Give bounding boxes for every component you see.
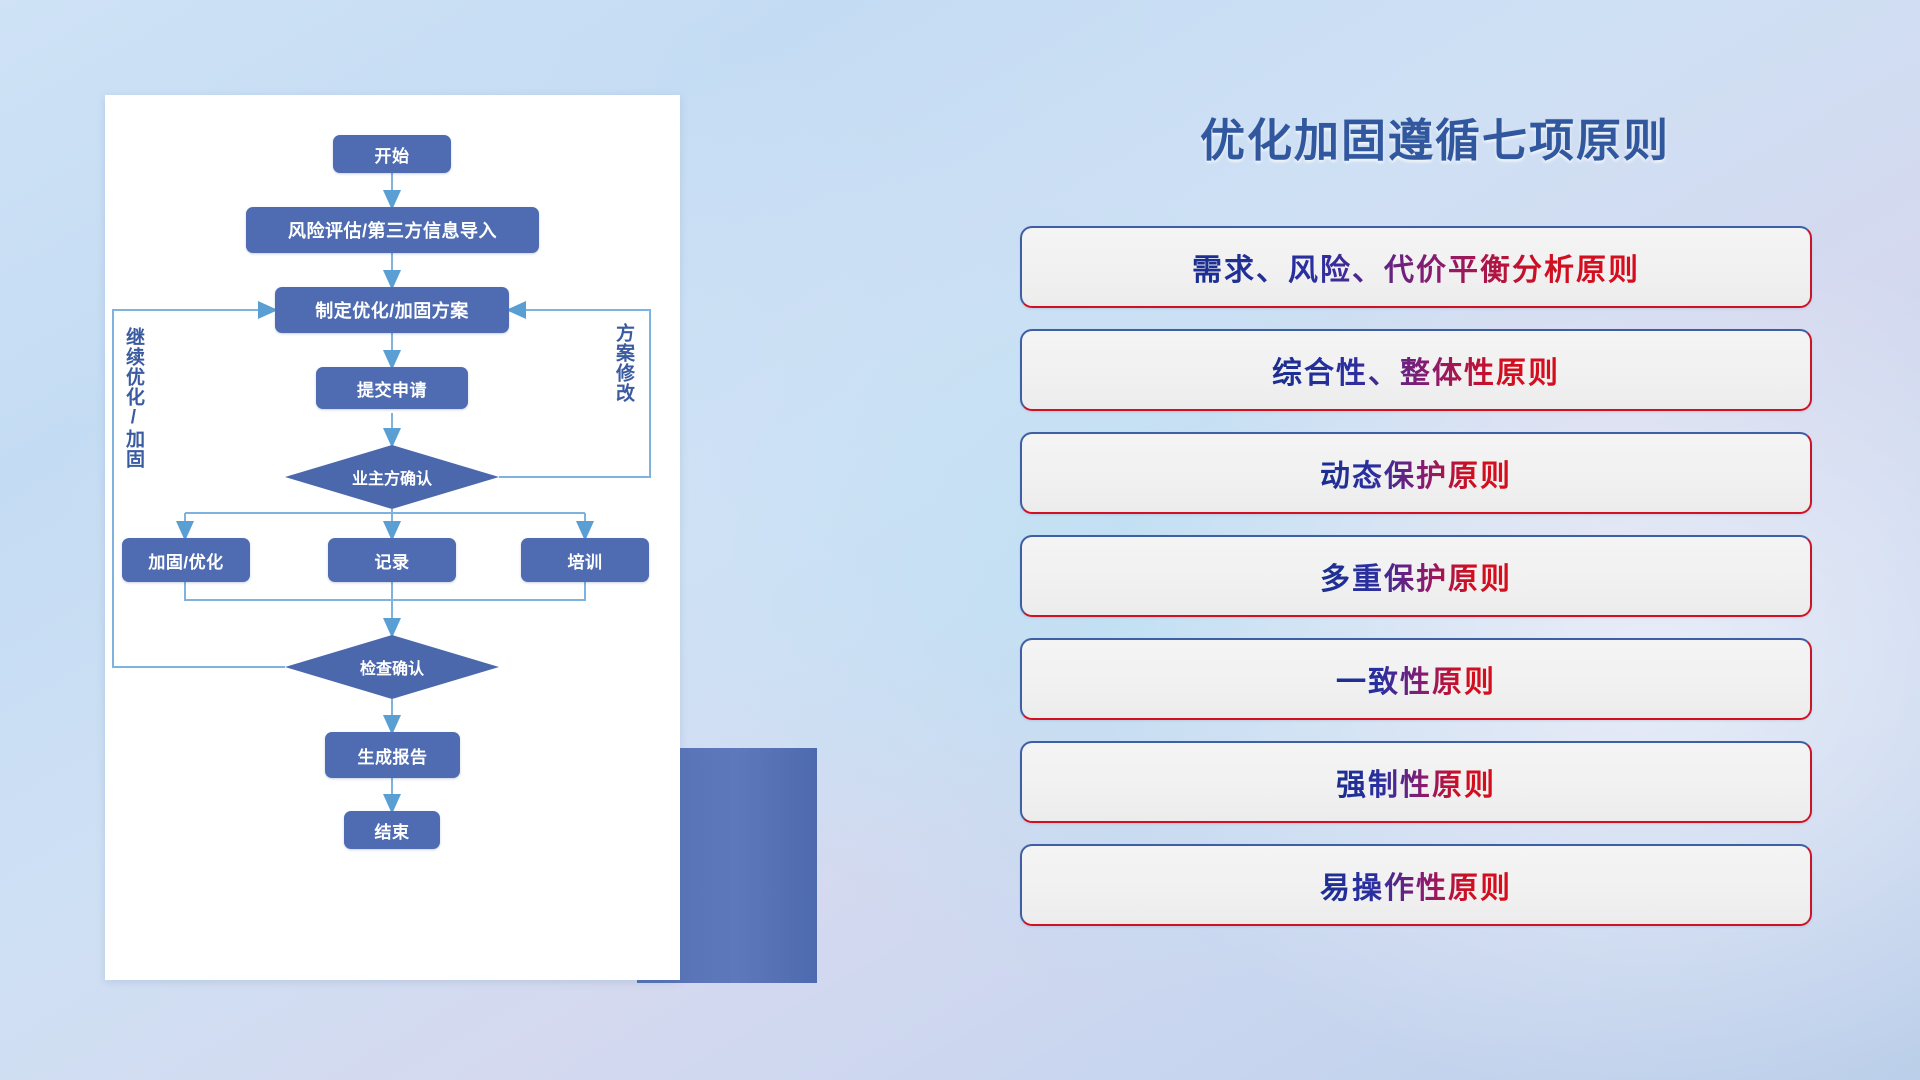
principle-label: 多重保护原则	[1320, 554, 1512, 598]
principles-panel: 优化加固遵循七项原则 需求、风险、代价平衡分析原则 综合性、整体性原则 动态保护…	[1020, 88, 1850, 1018]
principle-item[interactable]: 易操作性原则	[1020, 844, 1812, 926]
principle-label: 强制性原则	[1336, 760, 1496, 804]
principle-item[interactable]: 动态保护原则	[1020, 432, 1812, 514]
slide-root: 开始 风险评估/第三方信息导入 制定优化/加固方案 提交申请 业主方确认 加固/…	[0, 0, 1920, 1080]
flowchart-card: 开始 风险评估/第三方信息导入 制定优化/加固方案 提交申请 业主方确认 加固/…	[105, 95, 680, 980]
principle-label: 一致性原则	[1336, 657, 1496, 701]
principle-item[interactable]: 综合性、整体性原则	[1020, 329, 1812, 411]
flowchart: 开始 风险评估/第三方信息导入 制定优化/加固方案 提交申请 业主方确认 加固/…	[105, 95, 680, 980]
principle-item[interactable]: 强制性原则	[1020, 741, 1812, 823]
flow-node-record[interactable]: 记录	[328, 538, 456, 582]
flow-node-submit-application[interactable]: 提交申请	[316, 367, 468, 409]
principle-item[interactable]: 需求、风险、代价平衡分析原则	[1020, 226, 1812, 308]
flow-node-start[interactable]: 开始	[333, 135, 451, 173]
flow-node-end[interactable]: 结束	[344, 811, 440, 849]
panel-title: 优化加固遵循七项原则	[1020, 104, 1850, 169]
flow-node-training[interactable]: 培训	[521, 538, 649, 582]
principle-label: 综合性、整体性原则	[1272, 348, 1560, 392]
principle-label: 需求、风险、代价平衡分析原则	[1192, 245, 1640, 289]
flow-node-reinforce[interactable]: 加固/优化	[122, 538, 250, 582]
principles-list: 需求、风险、代价平衡分析原则 综合性、整体性原则 动态保护原则 多重保护原则 一…	[1020, 226, 1812, 947]
flow-node-risk-assessment[interactable]: 风险评估/第三方信息导入	[246, 207, 539, 253]
principle-label: 易操作性原则	[1320, 863, 1512, 907]
flow-edge-label-plan-revision: 方案修改	[613, 323, 633, 403]
principle-label: 动态保护原则	[1320, 451, 1512, 495]
flow-node-plan[interactable]: 制定优化/加固方案	[275, 287, 509, 333]
principle-item[interactable]: 一致性原则	[1020, 638, 1812, 720]
principle-item[interactable]: 多重保护原则	[1020, 535, 1812, 617]
flow-edge-label-continue-optimize: 继续优化/加固	[123, 327, 143, 469]
flow-node-generate-report[interactable]: 生成报告	[325, 732, 460, 778]
